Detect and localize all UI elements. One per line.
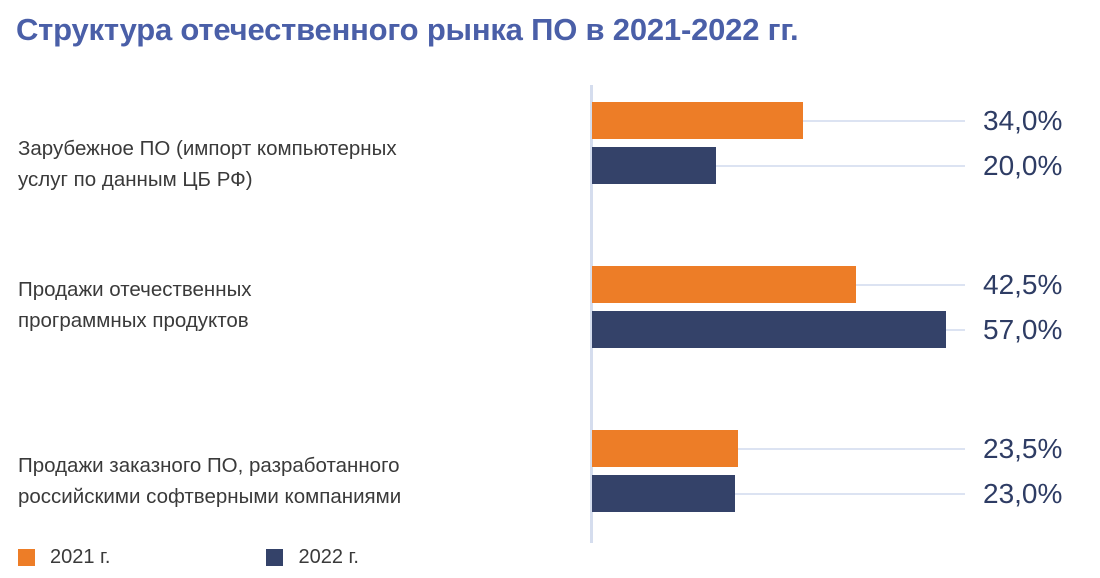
value-label-1-2021: 42,5% <box>983 271 1062 299</box>
category-label-1: Продажи отечественных программных продук… <box>18 274 578 336</box>
chart-legend: 2021 г. 2022 г. <box>18 546 359 569</box>
value-label-0-2021: 34,0% <box>983 107 1062 135</box>
bar-0-2022[interactable] <box>592 147 716 184</box>
leader-line-0-2021 <box>803 120 965 122</box>
leader-line-2-2022 <box>735 493 965 495</box>
category-label-0-line-1: услуг по данным ЦБ РФ) <box>18 164 578 195</box>
legend-item-2022[interactable]: 2022 г. <box>266 546 358 569</box>
legend-swatch-2022 <box>266 549 283 566</box>
value-label-0-2022: 20,0% <box>983 152 1062 180</box>
value-label-2-2021: 23,5% <box>983 435 1062 463</box>
plot-area: Зарубежное ПО (импорт компьютерных услуг… <box>0 0 1100 578</box>
leader-line-0-2022 <box>716 165 965 167</box>
legend-label-2022: 2022 г. <box>298 546 358 569</box>
bar-2-2022[interactable] <box>592 475 735 512</box>
bar-1-2022[interactable] <box>592 311 946 348</box>
legend-swatch-2021 <box>18 549 35 566</box>
leader-line-1-2021 <box>856 284 965 286</box>
value-label-1-2022: 57,0% <box>983 316 1062 344</box>
category-label-1-line-0: Продажи отечественных <box>18 274 578 305</box>
category-label-2-line-0: Продажи заказного ПО, разработанного <box>18 450 578 481</box>
bar-1-2021[interactable] <box>592 266 856 303</box>
category-label-2: Продажи заказного ПО, разработанного рос… <box>18 450 578 512</box>
category-label-0-line-0: Зарубежное ПО (импорт компьютерных <box>18 133 578 164</box>
leader-line-2-2021 <box>738 448 965 450</box>
category-label-0: Зарубежное ПО (импорт компьютерных услуг… <box>18 133 578 195</box>
category-label-1-line-1: программных продуктов <box>18 305 578 336</box>
legend-label-2021: 2021 г. <box>50 546 110 569</box>
legend-item-2021[interactable]: 2021 г. <box>18 546 110 569</box>
value-label-2-2022: 23,0% <box>983 480 1062 508</box>
category-label-2-line-1: российскими софтверными компаниями <box>18 481 578 512</box>
bar-0-2021[interactable] <box>592 102 803 139</box>
leader-line-1-2022 <box>946 329 965 331</box>
bar-2-2021[interactable] <box>592 430 738 467</box>
